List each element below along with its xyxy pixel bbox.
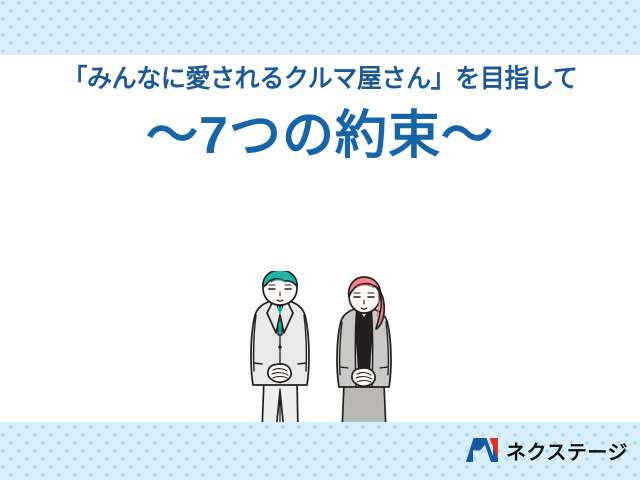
nextage-n-logo-icon xyxy=(465,437,499,468)
nextage-logo: ネクステージ xyxy=(465,437,628,468)
two-bowing-staff-illustration xyxy=(236,271,426,422)
headline-secondary: 〜7つの約束〜 xyxy=(0,107,640,167)
nextage-logo-text: ネクステージ xyxy=(506,443,628,463)
headline-block: 「みんなに愛されるクルマ屋さん」を目指して 〜7つの約束〜 xyxy=(0,55,640,167)
male-staff-figure xyxy=(251,271,309,422)
white-content-card: 「みんなに愛されるクルマ屋さん」を目指して 〜7つの約束〜 xyxy=(0,55,640,422)
female-staff-figure xyxy=(337,277,391,422)
headline-primary: 「みんなに愛されるクルマ屋さん」を目指して xyxy=(6,65,633,93)
promo-banner: 「みんなに愛されるクルマ屋さん」を目指して 〜7つの約束〜 xyxy=(0,0,640,480)
